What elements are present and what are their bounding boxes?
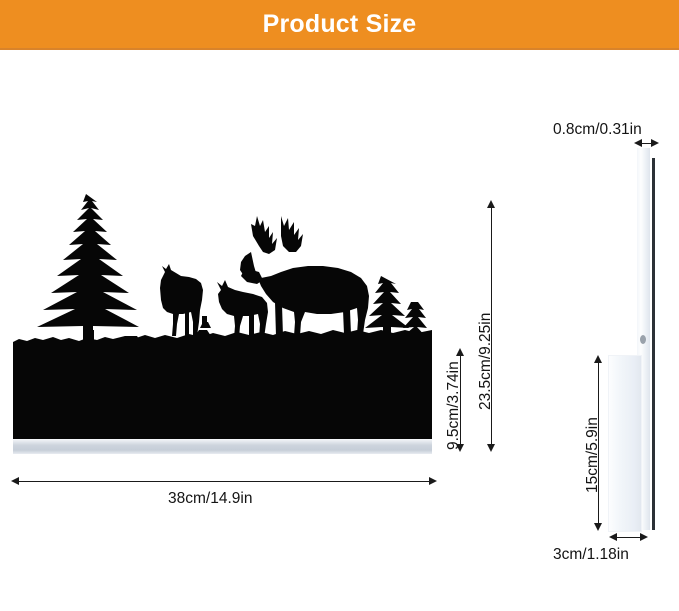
dimension-arrowhead-top-panel-height: [456, 348, 464, 356]
side-profile-dark-edge: [652, 158, 655, 530]
dimension-label-base-height: 15cm/5.9in: [585, 417, 601, 493]
dimension-arrowhead-right-base-depth: [640, 533, 648, 541]
dimension-label-panel-height: 9.5cm/3.74in: [446, 361, 462, 450]
dimension-arrowhead-right-thickness: [651, 139, 659, 147]
side-view-panel: [607, 148, 657, 530]
metal-base-strip: [13, 439, 432, 454]
dimension-arrowhead-bottom-base-height: [594, 523, 602, 531]
dimension-label-overall-width: 38cm/14.9in: [168, 491, 252, 507]
dimension-arrowhead-right-overall-width: [429, 477, 437, 485]
dimension-arrowhead-bottom-overall-height: [487, 444, 495, 452]
dimension-line-base-depth: [615, 537, 642, 538]
dimension-arrowhead-left-base-depth: [609, 533, 617, 541]
front-view-panel: [13, 347, 432, 449]
page-title: Product Size: [263, 12, 417, 37]
deer-forest-silhouette-scene: [13, 190, 432, 355]
sign-body-panel: [13, 347, 432, 439]
dimension-arrowhead-left-thickness: [634, 139, 642, 147]
dimension-label-base-depth: 3cm/1.18in: [553, 547, 629, 563]
dimension-label-overall-height: 23.5cm/9.25in: [478, 313, 494, 410]
dimension-arrowhead-top-overall-height: [487, 200, 495, 208]
dimension-arrowhead-left-overall-width: [11, 477, 19, 485]
dimension-label-thickness: 0.8cm/0.31in: [553, 122, 642, 138]
side-profile-hole-detail: [640, 335, 646, 344]
header-band: Product Size: [0, 0, 679, 48]
product-size-diagram: 9.5cm/3.74in 23.5cm/9.25in 38cm/14.9in 0…: [0, 50, 679, 611]
dimension-arrowhead-top-base-height: [594, 355, 602, 363]
side-profile-base-block: [608, 355, 642, 532]
dimension-line-overall-width: [17, 481, 431, 482]
